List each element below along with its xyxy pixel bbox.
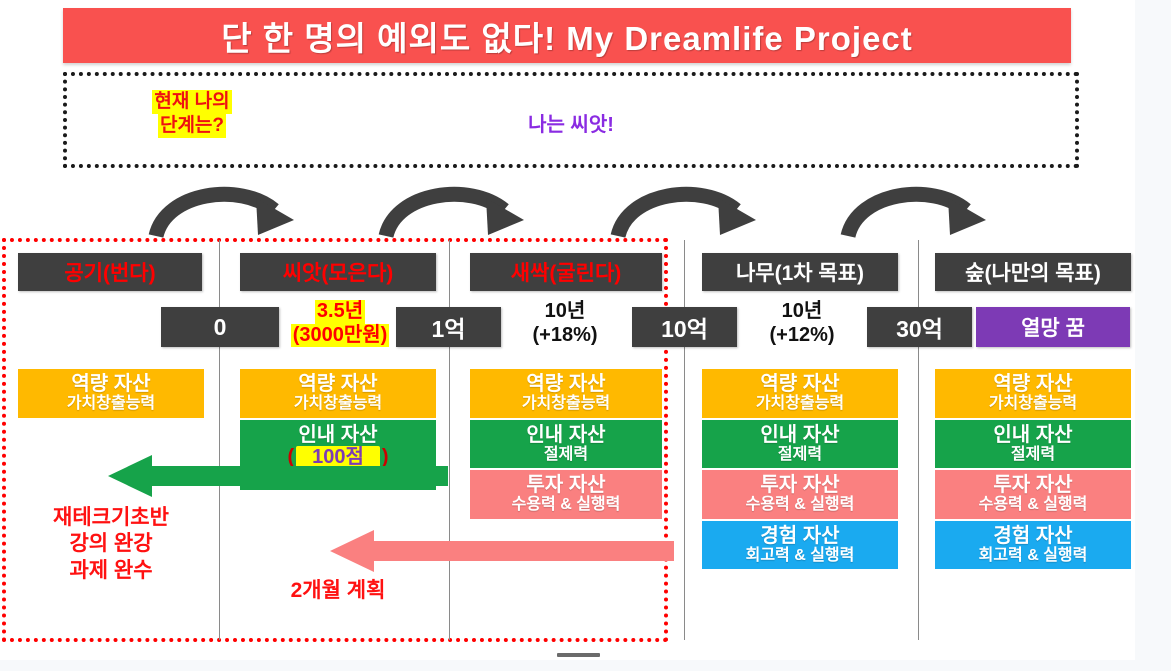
column-separator-4 <box>918 240 919 640</box>
asset-sub-0-0: 가치창출능력 <box>20 395 202 413</box>
asset-box-investment-2[interactable]: 투자 자산 수용력 & 실행력 <box>470 470 662 519</box>
asset-title-3-0: 역량 자산 <box>704 373 896 395</box>
column-separator-2 <box>449 240 450 640</box>
asset-box-patience-2[interactable]: 인내 자산 절제력 <box>470 420 662 469</box>
asset-sub-3-3: 회고력 & 실행력 <box>704 547 896 565</box>
asset-box-experience-4[interactable]: 경험 자산 회고력 & 실행력 <box>935 521 1131 570</box>
asset-title-4-0: 역량 자산 <box>937 373 1129 395</box>
stage-note-0: 재테크기초반 강의 완강 과제 완수 <box>18 505 204 584</box>
stage-header-label-0: 공기(번다) <box>64 257 155 287</box>
column-separator-1 <box>219 240 220 640</box>
asset-title-0-0: 역량 자산 <box>20 373 202 395</box>
transition-label-0: 3.5년 (3000만원) <box>280 300 400 347</box>
page-title: 단 한 명의 예외도 없다! My Dreamlife Project <box>221 12 913 60</box>
column-separator-3 <box>684 240 685 640</box>
asset-stack-4: 역량 자산 가치창출능력 인내 자산 절제력 투자 자산 수용력 & 실행력 경… <box>935 369 1131 571</box>
asset-box-experience-3[interactable]: 경험 자산 회고력 & 실행력 <box>702 521 898 570</box>
asset-box-competence-1[interactable]: 역량 자산 가치창출능력 <box>240 369 436 418</box>
stage-header-label-3: 나무(1차 목표) <box>736 257 864 287</box>
slide-canvas: 단 한 명의 예외도 없다! My Dreamlife Project 현재 나… <box>0 0 1135 660</box>
asset-title-3-1: 인내 자산 <box>704 424 896 446</box>
asset-sub-4-3: 회고력 & 실행력 <box>937 547 1129 565</box>
transition-label-1: 10년 (+18%) <box>505 300 625 347</box>
stage-note-1: 2개월 계획 <box>240 578 436 604</box>
stage-transition-arrow-4 <box>840 178 1005 240</box>
asset-sub-2-2: 수용력 & 실행력 <box>472 496 660 514</box>
current-stage-notice-box: 현재 나의 단계는? 나는 씨앗! <box>63 72 1079 168</box>
green-progress-arrow <box>108 455 448 497</box>
transition-detail-0: (3000만원) <box>291 324 390 348</box>
asset-title-1-0: 역량 자산 <box>242 373 434 395</box>
stage-header-label-1: 씨앗(모은다) <box>283 257 394 287</box>
stage-header-label-2: 새싹(굴린다) <box>511 257 622 287</box>
asset-title-4-3: 경험 자산 <box>937 525 1129 547</box>
stage-value-label-0: 0 <box>214 314 227 341</box>
stage-value-2[interactable]: 10억 <box>632 307 737 347</box>
asset-sub-3-1: 절제력 <box>704 446 896 464</box>
asset-box-investment-4[interactable]: 투자 자산 수용력 & 실행력 <box>935 470 1131 519</box>
asset-title-3-3: 경험 자산 <box>704 525 896 547</box>
stage-header-0[interactable]: 공기(번다) <box>18 253 202 291</box>
asset-box-competence-0[interactable]: 역량 자산 가치창출능력 <box>18 369 204 418</box>
asset-stack-3: 역량 자산 가치창출능력 인내 자산 절제력 투자 자산 수용력 & 실행력 경… <box>702 369 898 571</box>
asset-box-competence-2[interactable]: 역량 자산 가치창출능력 <box>470 369 662 418</box>
stage-header-label-4: 숲(나만의 목표) <box>965 257 1101 287</box>
stage-value-3[interactable]: 30억 <box>867 307 972 347</box>
stage-transition-arrow-2 <box>378 178 543 240</box>
asset-title-4-1: 인내 자산 <box>937 424 1129 446</box>
stage-value-4[interactable]: 열망 꿈 <box>976 307 1130 347</box>
stage-header-2[interactable]: 새싹(굴린다) <box>470 253 662 291</box>
transition-label-2: 10년 (+12%) <box>742 300 862 347</box>
transition-detail-2: (+12%) <box>769 324 834 346</box>
asset-title-2-0: 역량 자산 <box>472 373 660 395</box>
asset-sub-1-0: 가치창출능력 <box>242 395 434 413</box>
asset-box-patience-3[interactable]: 인내 자산 절제력 <box>702 420 898 469</box>
current-stage-answer: 나는 씨앗! <box>67 108 1075 137</box>
asset-sub-4-2: 수용력 & 실행력 <box>937 496 1129 514</box>
stage-header-3[interactable]: 나무(1차 목표) <box>702 253 898 291</box>
asset-box-patience-4[interactable]: 인내 자산 절제력 <box>935 420 1131 469</box>
transition-detail-1: (+18%) <box>532 324 597 346</box>
asset-sub-3-0: 가치창출능력 <box>704 395 896 413</box>
stage-value-1[interactable]: 1억 <box>396 307 501 347</box>
stage-value-label-3: 30억 <box>896 310 943 344</box>
stage-value-label-4: 열망 꿈 <box>1021 312 1085 342</box>
asset-title-2-2: 투자 자산 <box>472 474 660 496</box>
asset-title-2-1: 인내 자산 <box>472 424 660 446</box>
pink-progress-arrow <box>330 530 674 572</box>
asset-sub-2-0: 가치창출능력 <box>472 395 660 413</box>
asset-sub-3-2: 수용력 & 실행력 <box>704 496 896 514</box>
asset-stack-0: 역량 자산 가치창출능력 <box>18 369 204 420</box>
stage-header-4[interactable]: 숲(나만의 목표) <box>935 253 1131 291</box>
asset-box-competence-3[interactable]: 역량 자산 가치창출능력 <box>702 369 898 418</box>
stage-transition-arrow-3 <box>610 178 775 240</box>
asset-title-1-1: 인내 자산 <box>242 424 434 446</box>
bottom-scroll-indicator[interactable] <box>557 653 600 657</box>
stage-transition-arrow-1 <box>148 178 313 240</box>
stage-value-0[interactable]: 0 <box>161 307 279 347</box>
transition-period-1: 10년 <box>545 300 586 322</box>
transition-period-2: 10년 <box>782 300 823 322</box>
asset-sub-2-1: 절제력 <box>472 446 660 464</box>
asset-sub-4-0: 가치창출능력 <box>937 395 1129 413</box>
asset-title-4-2: 투자 자산 <box>937 474 1129 496</box>
transition-period-0: 3.5년 <box>315 300 365 324</box>
asset-sub-4-1: 절제력 <box>937 446 1129 464</box>
stage-value-label-1: 1억 <box>432 310 466 344</box>
asset-title-3-2: 투자 자산 <box>704 474 896 496</box>
asset-stack-2: 역량 자산 가치창출능력 인내 자산 절제력 투자 자산 수용력 & 실행력 <box>470 369 662 521</box>
stage-value-label-2: 10억 <box>661 310 708 344</box>
asset-box-investment-3[interactable]: 투자 자산 수용력 & 실행력 <box>702 470 898 519</box>
stage-header-1[interactable]: 씨앗(모은다) <box>240 253 436 291</box>
asset-box-competence-4[interactable]: 역량 자산 가치창출능력 <box>935 369 1131 418</box>
title-banner: 단 한 명의 예외도 없다! My Dreamlife Project <box>63 8 1071 63</box>
